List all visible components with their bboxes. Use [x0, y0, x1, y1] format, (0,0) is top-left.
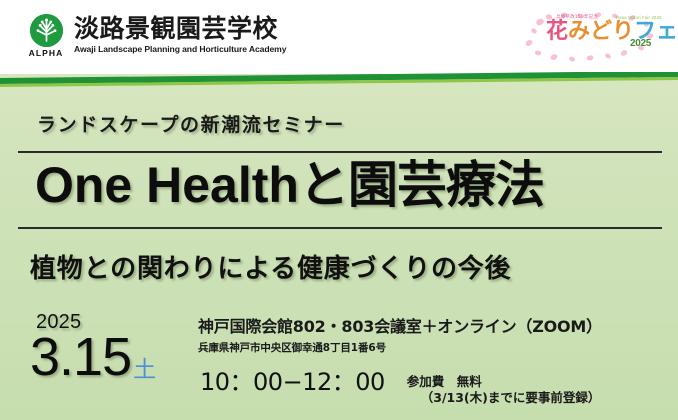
poster-title: One Healthと園芸療法	[35, 158, 544, 213]
poster-title-en: One Health	[35, 157, 299, 213]
poster-kicker: ランドスケープの新潮流セミナー	[37, 110, 345, 137]
school-name-block: 淡路景観園芸学校 Awaji Landscape Planning and Ho…	[74, 14, 286, 54]
event-time-fee: 10：00−12：00 参加費 無料 （3/13(木)までに要事前登録）	[200, 370, 600, 405]
event-date: 2025 3.15 土	[30, 312, 156, 384]
venue-address: 兵庫県神戸市中央区御幸通8丁目1番6号	[198, 340, 602, 355]
poster-header: ALPHA 淡路景観園芸学校 Awaji Landscape Planning …	[0, 0, 678, 72]
fair-char-midori: みどり	[568, 19, 634, 44]
alpha-wordmark: ALPHA	[29, 48, 64, 58]
school-name-en: Awaji Landscape Planning and Horticultur…	[74, 44, 286, 54]
event-time: 10：00−12：00	[200, 370, 385, 394]
fair-logo-year: 2025	[630, 38, 651, 49]
title-rule-top	[18, 151, 662, 153]
seminar-poster: ALPHA 淡路景観園芸学校 Awaji Landscape Planning …	[0, 0, 678, 420]
event-day: 3.15	[30, 330, 131, 384]
title-rule-bottom	[18, 227, 662, 229]
fair-logo: 兵庫県政150年記念 Hana Midori Fair 2025 花みどりフェア…	[520, 12, 660, 62]
event-day-row: 3.15 土	[30, 330, 156, 384]
school-name-jp: 淡路景観園芸学校	[74, 16, 286, 42]
event-venue: 神戸国際会館802・803会議室＋オンライン（ZOOM） 兵庫県神戸市中央区御幸…	[198, 318, 602, 355]
fair-char-hana: 花	[546, 19, 568, 44]
poster-title-jp: と園芸療法	[299, 156, 544, 214]
event-fee: 参加費 無料	[407, 374, 601, 390]
venue-name: 神戸国際会館802・803会議室＋オンライン（ZOOM）	[198, 318, 602, 336]
event-fee-block: 参加費 無料 （3/13(木)までに要事前登録）	[407, 370, 601, 405]
school-logo: ALPHA 淡路景観園芸学校 Awaji Landscape Planning …	[22, 14, 286, 58]
fair-logo-wordmark: 花みどりフェア	[546, 21, 678, 43]
tree-in-circle-icon	[30, 14, 63, 47]
event-day-of-week: 土	[133, 359, 156, 382]
poster-subtitle: 植物との関わりによる健康づくりの今後	[30, 248, 511, 285]
event-fee-note: （3/13(木)までに要事前登録）	[421, 390, 601, 406]
alpha-mark: ALPHA	[22, 14, 70, 58]
